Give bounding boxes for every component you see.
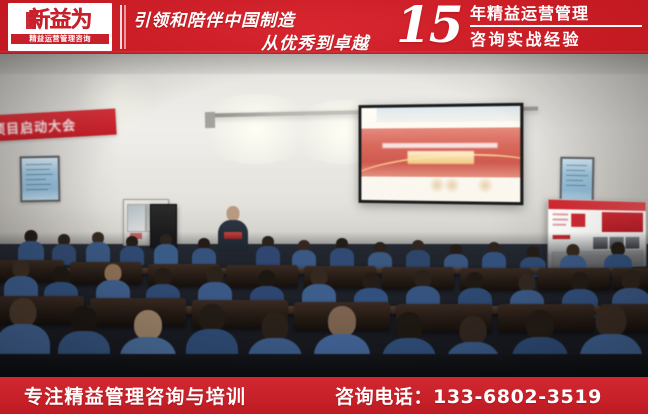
audience-member <box>406 240 430 268</box>
presenter <box>218 206 248 250</box>
slogan-line-2: 从优秀到卓越 <box>261 29 369 54</box>
slogan-line-1: 引领和陪伴中国制造 <box>133 6 295 31</box>
audience-member <box>330 238 354 266</box>
wall-banner-text: 建设项目启动大会 <box>0 115 77 140</box>
header-divider <box>120 5 125 49</box>
years-line-2: 咨询实战经验 <box>470 27 642 51</box>
header-banner: 新益为 精益运营管理咨询 引领和陪伴中国制造 从优秀到卓越 15 年精益运营管理… <box>0 0 648 54</box>
logo-mark: 新益为 <box>28 10 91 32</box>
projected-slide <box>361 106 520 202</box>
footer-tagline: 专注精益管理咨询与培训 <box>24 382 246 409</box>
footer-bar: 专注精益管理咨询与培训 咨询电话：133-6802-3519 <box>0 377 648 414</box>
audience-member <box>154 234 178 264</box>
audience-member <box>482 242 506 270</box>
promo-banner-image: 新益为 精益运营管理咨询 引领和陪伴中国制造 从优秀到卓越 15 年精益运营管理… <box>0 0 648 414</box>
foreground-shadow <box>0 354 648 377</box>
logo-tagline: 精益运营管理咨询 <box>11 34 109 44</box>
ceiling-beam-bracket <box>205 112 215 128</box>
conference-photo: 建设项目启动大会 <box>0 54 648 377</box>
header-slogan: 引领和陪伴中国制造 从优秀到卓越 <box>133 4 373 52</box>
audience-member <box>256 236 280 266</box>
audience-member <box>120 236 144 264</box>
audience-member <box>192 238 216 266</box>
audience-member <box>292 240 316 268</box>
wall-shadow-left <box>0 54 120 244</box>
audience-member <box>18 230 44 262</box>
years-text-block: 年精益运营管理 咨询实战经验 <box>470 3 642 51</box>
slide-title-block <box>408 151 475 164</box>
presenter-document <box>224 232 242 239</box>
wall-poster-right <box>560 157 595 204</box>
experience-highlight: 15 年精益运营管理 咨询实战经验 <box>392 1 642 53</box>
years-line-1: 年精益运营管理 <box>470 3 642 27</box>
slide-subtitle-line <box>383 143 497 148</box>
logo-brand-text: 新益为 <box>28 8 91 33</box>
footer-phone: 咨询电话：133-6802-3519 <box>335 382 602 409</box>
audience-member <box>86 232 110 262</box>
wall-poster-left <box>20 156 61 203</box>
years-number: 15 <box>396 0 462 51</box>
company-logo: 新益为 精益运营管理咨询 <box>8 3 112 51</box>
projection-screen <box>359 103 524 205</box>
